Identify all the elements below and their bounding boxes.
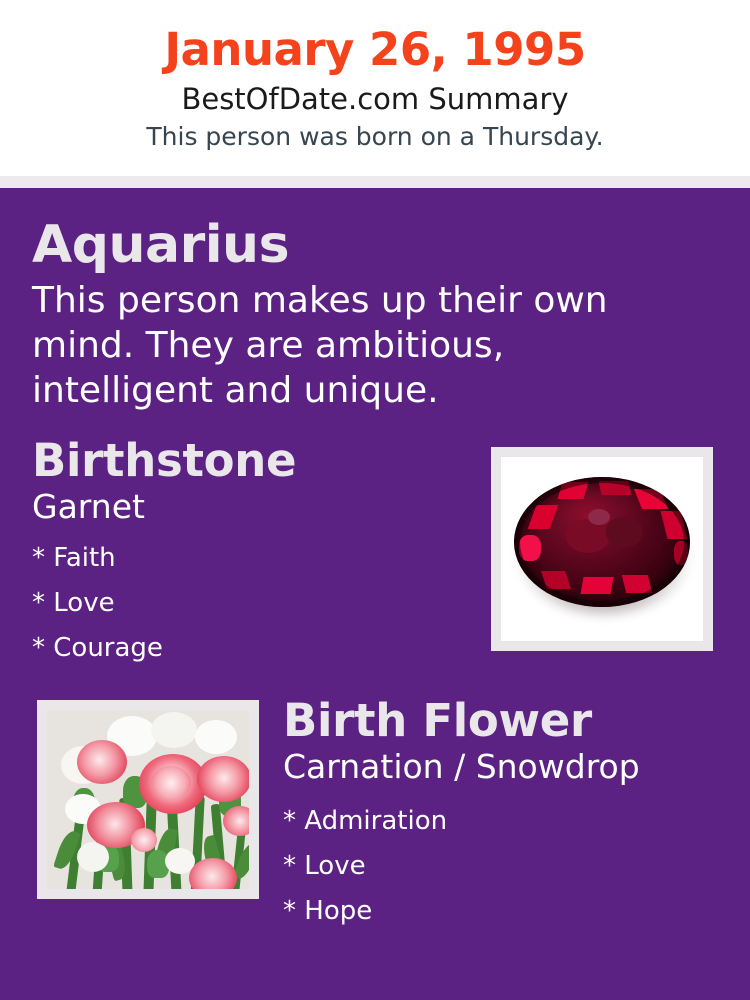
zodiac-section: Aquarius This person makes up their own …	[0, 188, 750, 413]
list-item: * Courage	[32, 626, 472, 671]
header-divider	[0, 176, 750, 188]
birth-flower-trait-list: * Admiration * Love * Hope	[283, 799, 733, 934]
garnet-gem-icon	[501, 457, 703, 641]
birthstone-trait-list: * Faith * Love * Courage	[32, 536, 472, 671]
birthstone-text-block: Birthstone Garnet * Faith * Love * Coura…	[32, 433, 472, 671]
page-header: January 26, 1995 BestOfDate.com Summary …	[0, 0, 750, 176]
birth-flower-image	[47, 710, 249, 889]
birth-flower-name: Carnation / Snowdrop	[283, 747, 733, 787]
list-item: * Faith	[32, 536, 472, 581]
summary-body: Aquarius This person makes up their own …	[0, 188, 750, 1000]
birth-flower-text-block: Birth Flower Carnation / Snowdrop * Admi…	[283, 693, 733, 934]
list-item: * Love	[32, 581, 472, 626]
carnation-bouquet-icon	[47, 710, 249, 889]
birthstone-image-frame	[491, 447, 713, 651]
page-title: January 26, 1995	[0, 22, 750, 78]
birthstone-heading: Birthstone	[32, 433, 472, 489]
birthstone-section: Birthstone Garnet * Faith * Love * Coura…	[0, 433, 750, 673]
birth-flower-heading: Birth Flower	[283, 693, 733, 749]
list-item: * Love	[283, 844, 733, 889]
birthstone-name: Garnet	[32, 487, 472, 527]
born-day-label: This person was born on a Thursday.	[0, 120, 750, 154]
list-item: * Hope	[283, 889, 733, 934]
birth-flower-image-frame	[37, 700, 259, 899]
site-summary-label: BestOfDate.com Summary	[0, 80, 750, 118]
birth-flower-section: Birth Flower Carnation / Snowdrop * Admi…	[0, 693, 750, 958]
list-item: * Admiration	[283, 799, 733, 844]
zodiac-description: This person makes up their own mind. The…	[32, 278, 692, 413]
zodiac-sign-name: Aquarius	[32, 214, 720, 276]
birthstone-image	[501, 457, 703, 641]
